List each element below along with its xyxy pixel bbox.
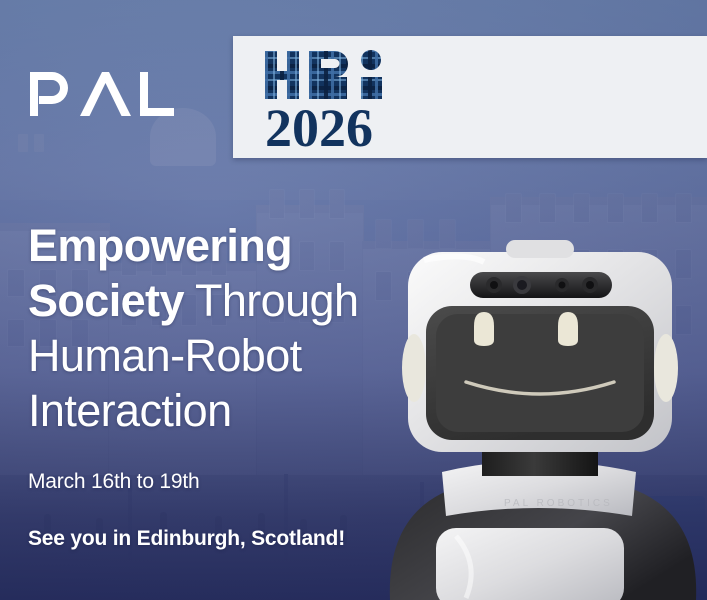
headline: Empowering Society Through Human-Robot I… [28, 218, 448, 438]
hri-2026-logo-banner: 2026 [233, 36, 707, 158]
poster-canvas: 2026 Empowering Society Through Human-Ro… [0, 0, 707, 600]
event-location: See you in Edinburgh, Scotland! [28, 527, 448, 551]
event-dates: March 16th to 19th [28, 470, 448, 494]
headline-word-through: Through [184, 275, 359, 326]
headline-word-human-robot: Human-Robot [28, 330, 302, 381]
hri-year: 2026 [265, 103, 445, 153]
pal-robotics-logo [28, 68, 180, 120]
hri-tartan-wordmark [265, 49, 415, 101]
svg-text:PAL ROBOTICS: PAL ROBOTICS [504, 498, 613, 509]
headline-word-interaction: Interaction [28, 385, 232, 436]
copy-block: Empowering Society Through Human-Robot I… [28, 218, 448, 551]
headline-word-empowering: Empowering [28, 220, 292, 271]
headline-word-society: Society [28, 275, 184, 326]
